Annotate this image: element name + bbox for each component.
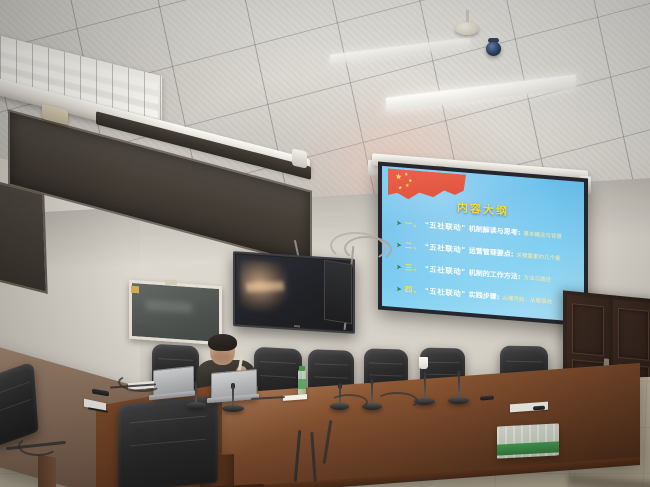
secondary-monitor bbox=[324, 260, 352, 324]
person-hair bbox=[208, 334, 237, 351]
bullet-heading: 机制的工作方法: bbox=[469, 268, 521, 282]
chair-back bbox=[118, 396, 218, 487]
water-bottle[interactable] bbox=[298, 370, 306, 396]
door-panel bbox=[572, 303, 604, 356]
bullet-subtext: 基本概念与背景 bbox=[524, 229, 563, 240]
bullet-quoted-term: "五社联动" bbox=[425, 285, 466, 299]
office-chair-foreground[interactable] bbox=[118, 396, 218, 487]
conference-microphone[interactable] bbox=[186, 381, 206, 409]
table-cable-loop bbox=[376, 392, 418, 410]
list-item: ➤ 四、 "五社联动" 实践步骤: 从哪开始、从哪落地 bbox=[396, 283, 574, 308]
arrow-bullet-icon: ➤ bbox=[396, 220, 402, 227]
board-corner-tag bbox=[131, 286, 139, 294]
flag-star-icon: ★ bbox=[395, 174, 402, 180]
bullet-quoted-term: "五社联动" bbox=[425, 219, 466, 233]
list-item: ➤ 三、 "五社联动" 机制的工作方法: 方法与路径 bbox=[396, 261, 574, 286]
remote-control[interactable] bbox=[533, 406, 545, 411]
mic-base bbox=[186, 402, 206, 409]
security-camera-icon bbox=[486, 42, 501, 56]
slide-surface: ★ ★ ★ ★ ★ 内容大纲 ➤ 一、 "五社联动" 机制解读与思考: 基本概念… bbox=[382, 166, 584, 322]
bottled-water-case bbox=[497, 423, 559, 458]
bullet-quoted-term: "五社联动" bbox=[425, 241, 466, 255]
arrow-bullet-icon: ➤ bbox=[396, 242, 402, 249]
bullet-heading: 机制解读与思考: bbox=[469, 224, 521, 238]
conference-microphone[interactable] bbox=[222, 383, 244, 412]
slide-bullet-list: ➤ 一、 "五社联动" 机制解读与思考: 基本概念与背景 ➤ 二、 "五社联动"… bbox=[396, 217, 574, 319]
mic-gooseneck bbox=[371, 379, 373, 405]
bottle-label bbox=[298, 379, 306, 389]
conference-room-photo: ★ ★ ★ ★ ★ 内容大纲 ➤ 一、 "五社联动" 机制解读与思考: 基本概念… bbox=[0, 0, 650, 487]
smoke-detector-icon bbox=[455, 22, 479, 35]
bullet-subtext: 从哪开始、从哪落地 bbox=[503, 294, 553, 306]
floor-cable-loop bbox=[18, 436, 58, 456]
flag-star-icon: ★ bbox=[405, 184, 409, 189]
tv-reflection bbox=[246, 281, 285, 292]
bullet-quoted-term: "五社联动" bbox=[425, 263, 466, 277]
person-face-shadow bbox=[212, 350, 232, 363]
board-mount-clip bbox=[165, 280, 177, 286]
bullet-heading: 运营管理要点: bbox=[469, 246, 514, 260]
mic-gooseneck bbox=[458, 371, 460, 399]
mic-gooseneck bbox=[424, 372, 426, 400]
bullet-subtext: 方法与路径 bbox=[524, 273, 552, 283]
arrow-bullet-icon: ➤ bbox=[396, 264, 402, 271]
flag-star-icon: ★ bbox=[398, 186, 402, 191]
mic-base bbox=[448, 397, 469, 404]
mic-gooseneck bbox=[232, 384, 234, 407]
table-leg bbox=[38, 454, 56, 487]
roller-end-cap bbox=[292, 148, 307, 168]
bullet-heading: 实践步骤: bbox=[469, 290, 500, 302]
projection-screen[interactable]: ★ ★ ★ ★ ★ 内容大纲 ➤ 一、 "五社联动" 机制解读与思考: 基本概念… bbox=[378, 162, 588, 327]
conference-microphone[interactable] bbox=[448, 370, 469, 404]
mic-base bbox=[222, 405, 244, 412]
bullet-number: 三、 bbox=[405, 262, 422, 274]
door-panel bbox=[618, 308, 649, 361]
mic-gooseneck bbox=[195, 382, 197, 404]
bullet-number: 四、 bbox=[405, 284, 422, 296]
arrow-bullet-icon: ➤ bbox=[396, 286, 402, 293]
paper-cup[interactable] bbox=[419, 357, 428, 369]
table-cable-loop bbox=[330, 394, 368, 410]
bullet-number: 一、 bbox=[405, 218, 422, 230]
tv-brand-logo bbox=[294, 325, 300, 327]
bottle-cap bbox=[299, 366, 305, 371]
bullet-subtext: 关键要素的几个重 bbox=[517, 251, 561, 263]
list-item: ➤ 二、 "五社联动" 运营管理要点: 关键要素的几个重 bbox=[396, 239, 574, 264]
chalk-smudge bbox=[146, 300, 192, 313]
window-blind-panel bbox=[0, 178, 48, 294]
bullet-number: 二、 bbox=[405, 240, 422, 252]
